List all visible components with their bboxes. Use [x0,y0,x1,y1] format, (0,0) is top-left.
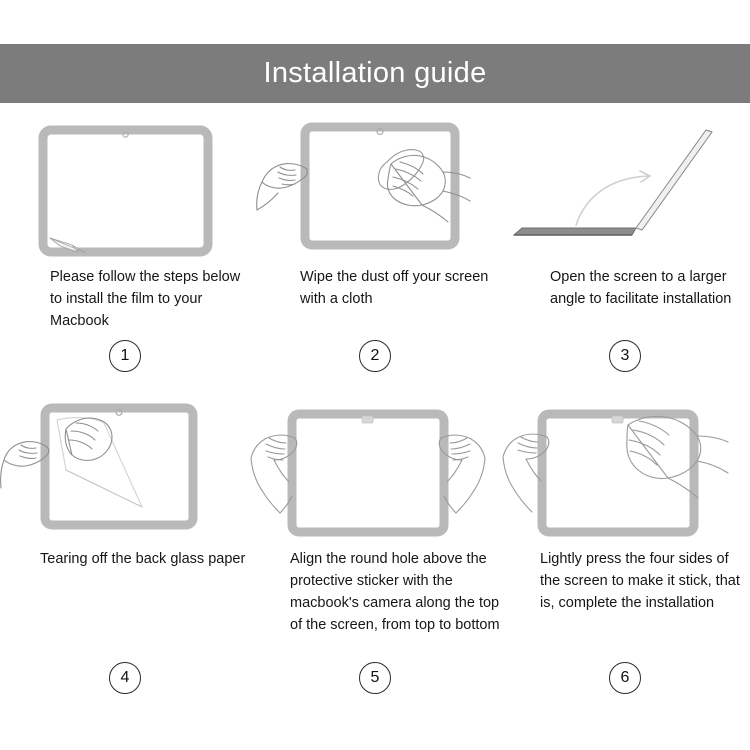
step-caption-5: Align the round hole above the protectiv… [258,548,502,660]
figure-tablet-peeling-back-paper [0,392,250,544]
step-badge-4: 4 [109,662,141,694]
step-badge-wrap-6: 6 [500,662,750,694]
figure-two-hands-aligning-film [250,392,500,544]
steps-grid: Please follow the steps below to install… [0,112,750,694]
step-row-bottom: Tearing off the back glass paper 4 [0,392,750,694]
step-caption-6: Lightly press the four sides of the scre… [508,548,750,660]
figure-tablet-with-peeling-film-corner [0,112,250,264]
step-caption-2: Wipe the dust off your screen with a clo… [258,266,500,336]
step-cell-1: Please follow the steps below to install… [0,112,250,372]
step-caption-1: Please follow the steps below to install… [8,266,250,336]
step-badge-6: 6 [609,662,641,694]
step-badge-wrap-3: 3 [500,340,750,372]
step-badge-1: 1 [109,340,141,372]
step-cell-3: Open the screen to a larger angle to fac… [500,112,750,372]
step-badge-wrap-1: 1 [0,340,250,372]
step-caption-4: Tearing off the back glass paper [8,548,252,660]
step-badge-5: 5 [359,662,391,694]
step-badge-3: 3 [609,340,641,372]
step-cell-4: Tearing off the back glass paper 4 [0,392,250,694]
header-banner: Installation guide [0,44,750,103]
step-row-top: Please follow the steps below to install… [0,112,750,372]
figure-hand-pressing-screen [500,392,750,544]
step-badge-wrap-5: 5 [250,662,500,694]
step-badge-2: 2 [359,340,391,372]
step-badge-wrap-2: 2 [250,340,500,372]
page-title: Installation guide [263,59,486,88]
step-cell-5: Align the round hole above the protectiv… [250,392,500,694]
step-cell-6: Lightly press the four sides of the scre… [500,392,750,694]
step-badge-wrap-4: 4 [0,662,250,694]
step-caption-3: Open the screen to a larger angle to fac… [508,266,750,336]
figure-tablet-wiped-with-cloth [250,112,500,264]
figure-laptop-opening-angle-arrow [500,112,750,264]
step-cell-2: Wipe the dust off your screen with a clo… [250,112,500,372]
